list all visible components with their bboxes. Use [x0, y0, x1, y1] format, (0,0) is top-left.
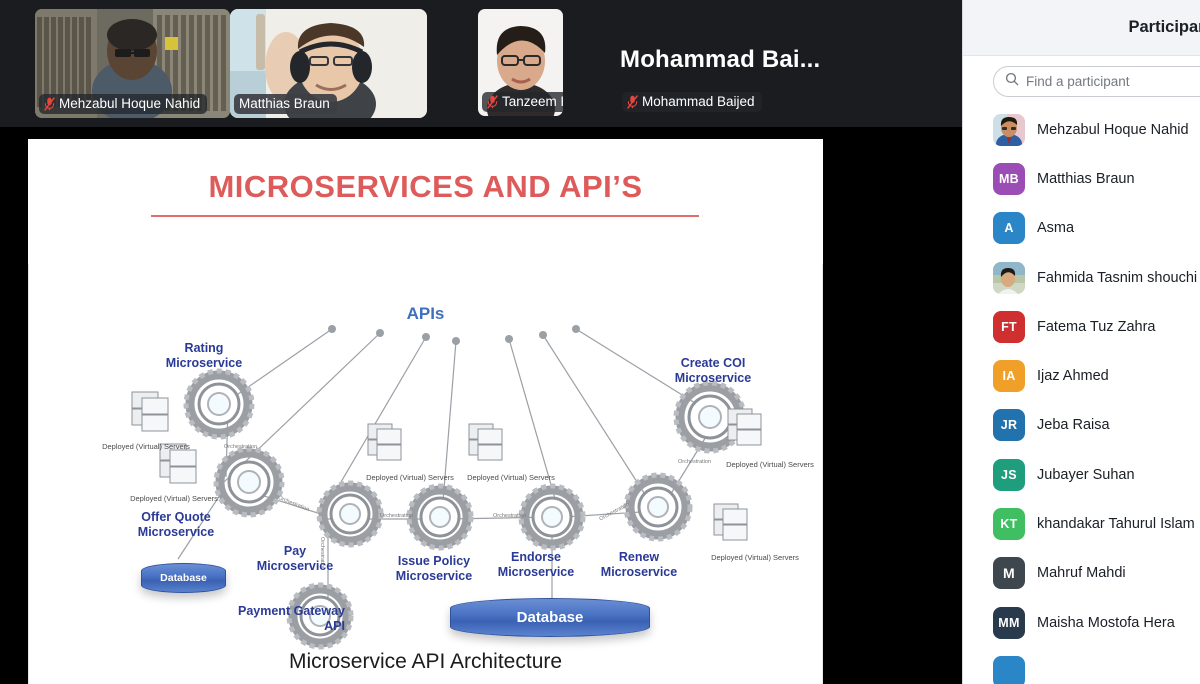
participant-search-wrapper: [963, 56, 1200, 105]
participant-row[interactable]: A Asma: [993, 204, 1200, 253]
participant-name: Fahmida Tasnim shouchi: [1037, 270, 1197, 286]
participant-name: Ijaz Ahmed: [1037, 368, 1109, 384]
spotlight-chip-label: Mohammad Baijed: [642, 94, 755, 109]
participant-name: Fatema Tuz Zahra: [1037, 319, 1155, 335]
zoom-meeting-window: Mehzabul Hoque Nahid: [0, 0, 1200, 684]
participants-title: Participants (: [1128, 18, 1200, 37]
participant-name: Jubayer Suhan: [1037, 467, 1135, 483]
microservice-label: Rating Microservice: [144, 341, 264, 372]
microservice-label: Pay Microservice: [235, 544, 355, 575]
deployed-servers-label: Deployed (Virtual) Servers: [86, 442, 206, 451]
deployed-servers-label: Deployed (Virtual) Servers: [710, 460, 823, 469]
avatar-initials: MM: [998, 616, 1019, 630]
tile-name-chip-3: Tanzeem Haque: [482, 92, 563, 112]
tile-name-label-2: Matthias Braun: [239, 96, 330, 111]
participants-list[interactable]: Mehzabul Hoque Nahid MB Matthias Braun A…: [963, 105, 1200, 684]
video-tile-participant-1[interactable]: Mehzabul Hoque Nahid: [35, 9, 230, 118]
avatar-initials: JR: [1001, 418, 1018, 432]
avatar: JS: [993, 459, 1025, 491]
participant-name: Mehzabul Hoque Nahid: [1037, 122, 1189, 138]
orchestration-label: Orchestration: [224, 444, 257, 450]
avatar-initials: FT: [1001, 320, 1017, 334]
tile-name-chip-1: Mehzabul Hoque Nahid: [39, 94, 207, 114]
orchestration-label: Orchestration: [493, 513, 526, 519]
avatar: FT: [993, 311, 1025, 343]
deployed-servers-label: Deployed (Virtual) Servers: [695, 553, 815, 562]
diagram-connectors: [28, 139, 823, 684]
search-icon: [1005, 72, 1019, 91]
participant-row[interactable]: [993, 647, 1200, 684]
participant-row[interactable]: IA Ijaz Ahmed: [993, 351, 1200, 400]
participant-row[interactable]: MB Matthias Braun: [993, 154, 1200, 203]
participant-name: Mahruf Mahdi: [1037, 565, 1126, 581]
orchestration-label: Orchestration: [380, 513, 413, 519]
tile-name-chip-2: Matthias Braun: [234, 94, 337, 114]
tile-name-label-1: Mehzabul Hoque Nahid: [59, 96, 200, 111]
microservice-label: Endorse Microservice: [476, 550, 596, 581]
database-label: Database: [160, 572, 207, 584]
video-tile-participant-2[interactable]: Matthias Braun: [230, 9, 427, 118]
participant-search-box[interactable]: [993, 66, 1200, 97]
avatar-photo: [993, 114, 1025, 146]
database-label: Database: [517, 609, 584, 626]
avatar: A: [993, 212, 1025, 244]
database-node: Database: [141, 563, 226, 593]
presentation-slide[interactable]: MICROSERVICES AND API’S APIs: [28, 139, 823, 684]
video-tile-participant-3[interactable]: Tanzeem Haque: [478, 9, 563, 116]
avatar: MM: [993, 607, 1025, 639]
meeting-area: Mehzabul Hoque Nahid: [0, 0, 962, 684]
participants-panel-header: Participants (: [963, 0, 1200, 56]
avatar-initials: A: [1004, 221, 1013, 235]
avatar: [993, 656, 1025, 684]
participant-row[interactable]: JR Jeba Raisa: [993, 401, 1200, 450]
avatar: [993, 262, 1025, 294]
diagram-caption: Microservice API Architecture: [28, 650, 823, 674]
microservice-label: Offer Quote Microservice: [116, 510, 236, 541]
participant-row[interactable]: Fahmida Tasnim shouchi: [993, 253, 1200, 302]
search-input[interactable]: [1026, 74, 1196, 89]
participant-row[interactable]: JS Jubayer Suhan: [993, 450, 1200, 499]
microphone-muted-icon: [627, 95, 638, 109]
microservice-label: Create COI Microservice: [653, 356, 773, 387]
participant-row[interactable]: MM Maisha Mostofa Hera: [993, 598, 1200, 647]
participant-row[interactable]: Mehzabul Hoque Nahid: [993, 105, 1200, 154]
avatar: [993, 114, 1025, 146]
avatar-initials: KT: [1000, 517, 1017, 531]
avatar-initials: JS: [1001, 468, 1017, 482]
microservice-label: Payment Gateway API: [170, 604, 345, 635]
participant-name: khandakar Tahurul Islam: [1037, 516, 1195, 532]
participant-name: Matthias Braun: [1037, 171, 1135, 187]
spotlight-name-chip: Mohammad Baijed: [622, 92, 762, 112]
participants-panel: Participants (: [962, 0, 1200, 684]
avatar-initials: M: [1003, 565, 1015, 581]
tile-name-label-3: Tanzeem Haque: [502, 94, 563, 109]
screen-share-stage: MICROSERVICES AND API’S APIs: [0, 127, 962, 684]
participant-name: Jeba Raisa: [1037, 417, 1110, 433]
microphone-muted-icon: [44, 97, 55, 111]
microphone-muted-icon: [487, 95, 498, 109]
deployed-servers-label: Deployed (Virtual) Servers: [451, 473, 571, 482]
avatar: KT: [993, 508, 1025, 540]
avatar-initials: MB: [999, 172, 1019, 186]
avatar: JR: [993, 409, 1025, 441]
orchestration-label: Orchestration: [319, 537, 325, 570]
microservice-label: Renew Microservice: [579, 550, 699, 581]
participant-row[interactable]: KT khandakar Tahurul Islam: [993, 499, 1200, 548]
avatar: M: [993, 557, 1025, 589]
avatar-photo: [993, 262, 1025, 294]
video-filmstrip: Mehzabul Hoque Nahid: [0, 0, 962, 127]
avatar-initials: IA: [1002, 369, 1015, 383]
participant-name: Asma: [1037, 220, 1074, 236]
participant-name: Maisha Mostofa Hera: [1037, 615, 1175, 631]
deployed-servers-label: Deployed (Virtual) Servers: [114, 494, 234, 503]
avatar: IA: [993, 360, 1025, 392]
spotlight-speaker-name: Mohammad Bai...: [620, 46, 820, 74]
orchestration-label: Orchestration: [678, 459, 711, 465]
participant-row[interactable]: FT Fatema Tuz Zahra: [993, 302, 1200, 351]
database-node: Database: [450, 598, 650, 637]
participant-row[interactable]: M Mahruf Mahdi: [993, 549, 1200, 598]
avatar: MB: [993, 163, 1025, 195]
